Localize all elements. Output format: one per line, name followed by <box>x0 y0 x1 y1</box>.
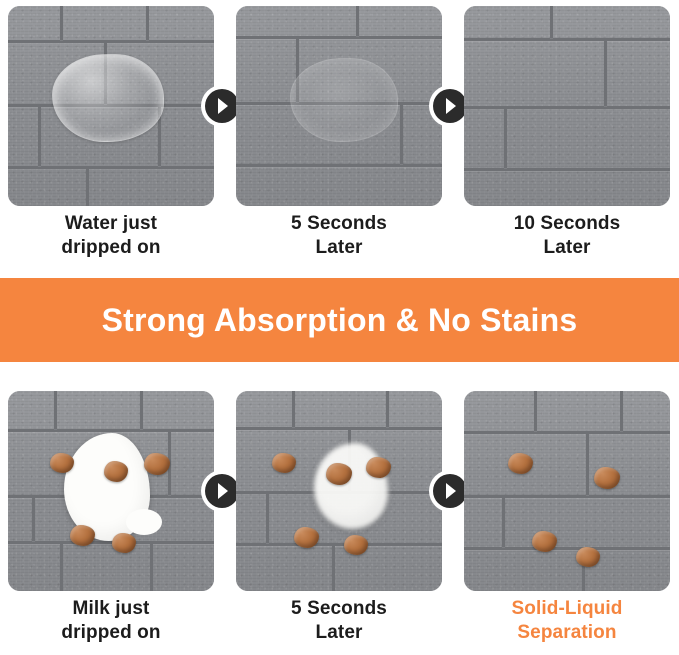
milk-just-dripped-panel <box>8 391 214 591</box>
grout-line <box>464 106 670 109</box>
grout-line <box>620 391 623 431</box>
grout-line <box>292 391 295 427</box>
grout-line <box>550 6 553 38</box>
grout-line <box>54 391 57 429</box>
milk-absorption-row <box>0 391 679 591</box>
kibble <box>344 535 368 555</box>
caption-line-2: Separation <box>464 621 670 645</box>
grout-line <box>150 541 153 591</box>
grout-line <box>60 541 63 591</box>
water-10-seconds-panel <box>464 6 670 206</box>
grout-line <box>464 168 670 171</box>
grout-line <box>146 6 149 40</box>
water-5-seconds-caption: 5 Seconds Later <box>236 212 442 260</box>
grout-line <box>604 38 607 106</box>
grout-line <box>386 391 389 427</box>
kibble <box>366 457 391 478</box>
water-droplet <box>52 54 164 142</box>
milk-spill-tail <box>126 509 162 535</box>
grout-line <box>8 40 214 43</box>
banner-text: Strong Absorption & No Stains <box>102 302 578 339</box>
grout-line <box>332 543 335 591</box>
grout-line <box>236 36 442 39</box>
grout-line <box>236 427 442 430</box>
caption-line-1: Milk just <box>8 597 214 621</box>
caption-line-1: 5 Seconds <box>236 212 442 236</box>
caption-line-2: Later <box>236 621 442 645</box>
grout-line <box>504 106 507 168</box>
kibble <box>294 527 319 548</box>
grout-line <box>400 102 403 164</box>
grout-line <box>8 429 214 432</box>
product-infographic: Water just dripped on 5 Seconds Later 10… <box>0 0 679 655</box>
grout-line <box>464 495 670 498</box>
grout-line <box>236 164 442 167</box>
water-just-dripped-panel <box>8 6 214 206</box>
solid-liquid-separation-caption: Solid-Liquid Separation <box>464 597 670 645</box>
milk-5-seconds-panel <box>236 391 442 591</box>
water-10-seconds-caption: 10 Seconds Later <box>464 212 670 260</box>
kibble <box>144 453 170 475</box>
grout-line <box>140 391 143 429</box>
grout-line <box>32 495 35 541</box>
water-5-seconds-panel <box>236 6 442 206</box>
caption-line-2: Later <box>236 236 442 260</box>
water-absorption-row <box>0 6 679 206</box>
caption-line-2: Later <box>464 236 670 260</box>
caption-line-1: Water just <box>8 212 214 236</box>
caption-line-2: dripped on <box>8 236 214 260</box>
kibble <box>272 453 296 473</box>
grout-line <box>534 391 537 431</box>
caption-line-2: dripped on <box>8 621 214 645</box>
grout-line <box>464 431 670 434</box>
stone-mat-texture <box>464 391 670 591</box>
caption-line-1: Solid-Liquid <box>464 597 670 621</box>
grout-line <box>586 431 589 495</box>
grout-line <box>266 491 269 543</box>
grout-line <box>38 104 41 166</box>
solid-liquid-separation-panel <box>464 391 670 591</box>
kibble <box>326 463 352 485</box>
kibble <box>50 453 74 473</box>
grout-line <box>86 166 89 206</box>
grout-line <box>8 541 214 544</box>
grout-line <box>464 547 670 550</box>
kibble <box>532 531 557 552</box>
kibble <box>70 525 95 546</box>
grout-line <box>8 166 214 169</box>
grout-line <box>356 6 359 36</box>
kibble <box>112 533 136 553</box>
grout-line <box>464 38 670 41</box>
kibble <box>594 467 620 489</box>
grout-line <box>236 543 442 546</box>
milk-residue <box>314 443 388 529</box>
caption-line-1: 10 Seconds <box>464 212 670 236</box>
grout-line <box>60 6 63 40</box>
kibble <box>576 547 600 567</box>
kibble <box>508 453 533 474</box>
water-just-dripped-caption: Water just dripped on <box>8 212 214 260</box>
water-damp-patch <box>290 58 398 142</box>
milk-just-dripped-caption: Milk just dripped on <box>8 597 214 645</box>
milk-5-seconds-caption: 5 Seconds Later <box>236 597 442 645</box>
banner-strong-absorption: Strong Absorption & No Stains <box>0 278 679 362</box>
grout-line <box>502 495 505 547</box>
caption-line-1: 5 Seconds <box>236 597 442 621</box>
kibble <box>104 461 128 482</box>
